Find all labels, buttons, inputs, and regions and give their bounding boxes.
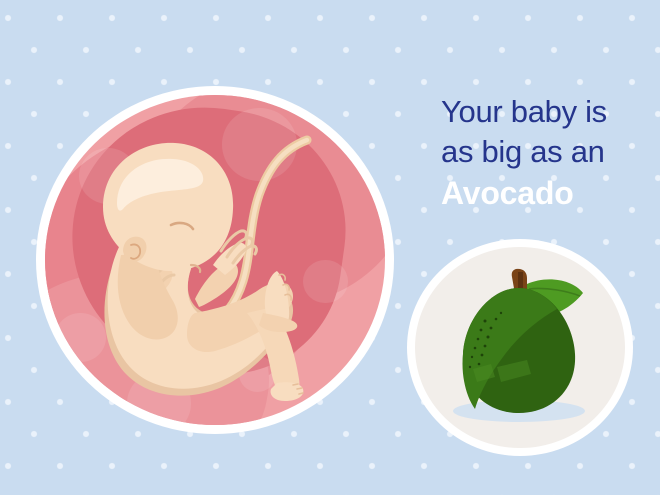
headline-fruit-name: Avocado [441,172,651,214]
size-comparison-card: Your baby is as big as an Avocado [0,0,660,495]
womb-illustration [36,86,394,434]
avocado-disc [415,247,625,448]
headline-line-1: Your baby is [441,92,651,132]
headline: Your baby is as big as an Avocado [441,92,651,214]
avocado-icon [415,247,625,448]
fetus-foot-lower [271,382,304,401]
avocado-medallion [407,239,633,456]
fetus-figure [45,95,385,425]
womb-disc [45,95,385,425]
fetus-mouth [191,265,200,272]
headline-line-2: as big as an [441,132,651,172]
